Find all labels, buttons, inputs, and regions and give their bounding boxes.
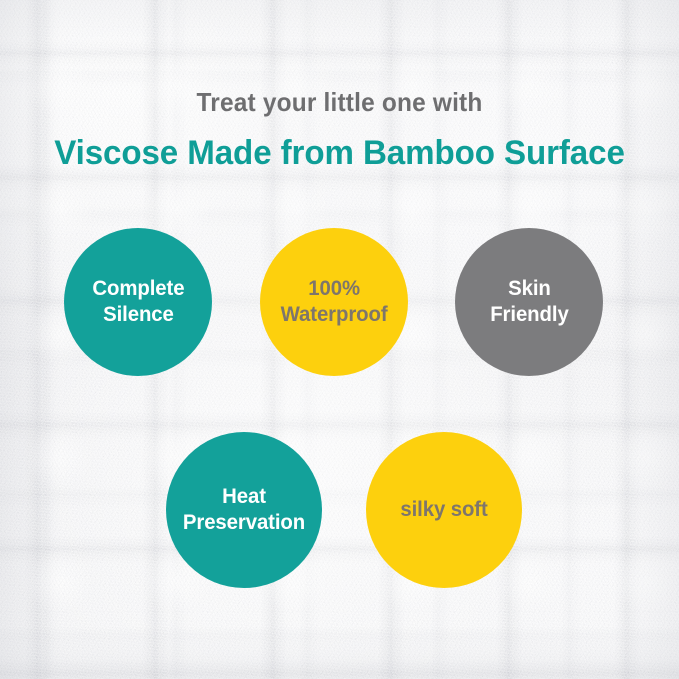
kicker-text: Treat your little one with	[20, 88, 658, 117]
feature-bubble-skin-friendly: Skin Friendly	[455, 228, 603, 376]
page-title: Viscose Made from Bamboo Surface	[14, 117, 666, 173]
feature-bubble-waterproof: 100% Waterproof	[260, 228, 408, 376]
feature-bubble-silky-soft: silky soft	[366, 432, 522, 588]
feature-label: Skin Friendly	[490, 276, 568, 327]
product-feature-poster: Treat your little one with Viscose Made …	[0, 0, 679, 679]
feature-label: silky soft	[400, 497, 487, 523]
headline-block: Treat your little one with Viscose Made …	[0, 88, 679, 173]
feature-label: Heat Preservation	[168, 484, 319, 535]
feature-bubble-complete-silence: Complete Silence	[64, 228, 212, 376]
feature-bubble-heat-preservation: Heat Preservation	[166, 432, 322, 588]
feature-label: 100% Waterproof	[281, 276, 388, 327]
feature-label: Complete Silence	[92, 276, 184, 327]
